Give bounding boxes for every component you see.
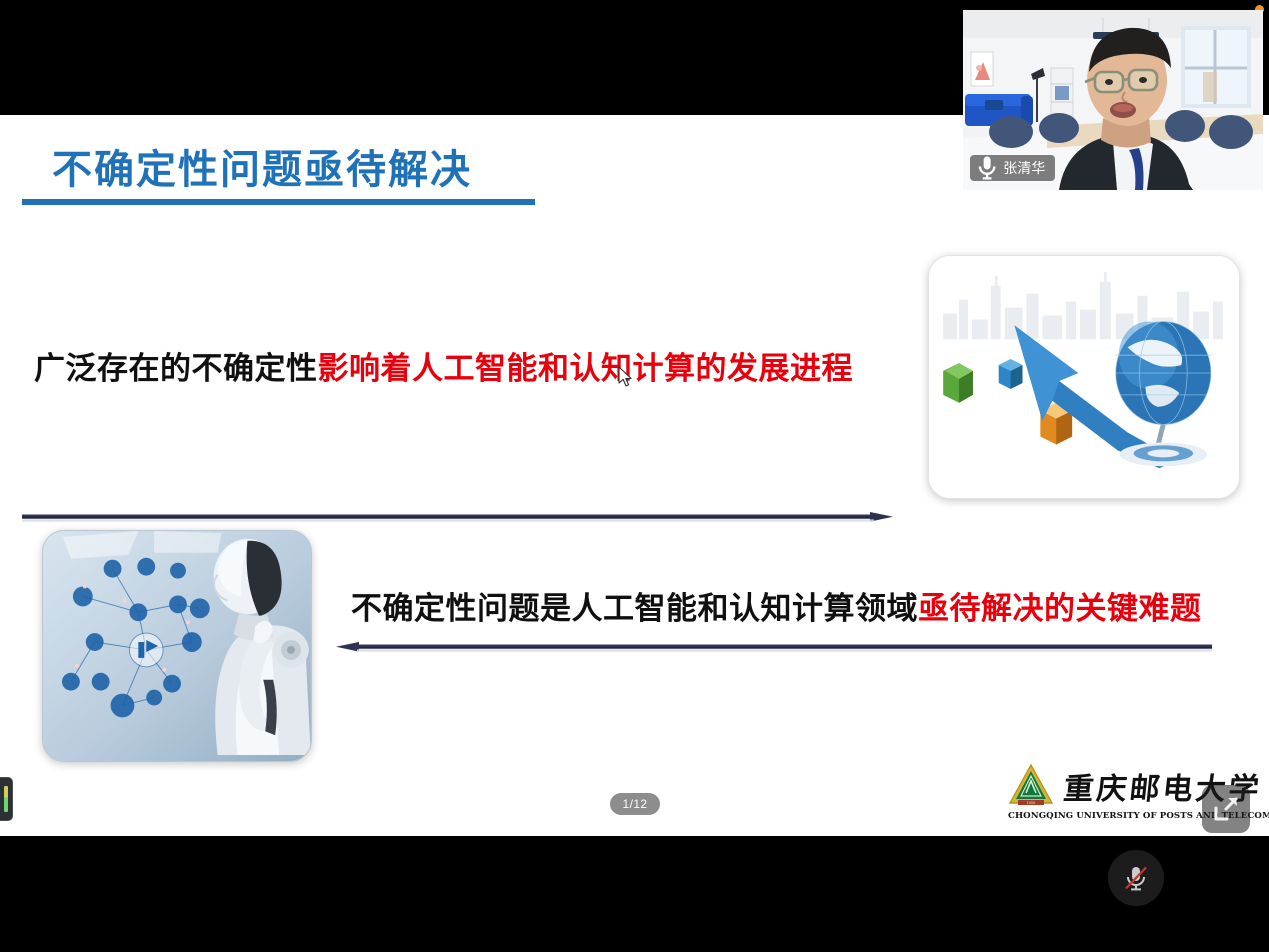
participant-video-tile[interactable]: 张清华 — [963, 10, 1263, 190]
slide-title: 不确定性问题亟待解决 — [52, 137, 472, 195]
shared-slide-surface[interactable]: 不确定性问题亟待解决 广泛存在的不确定性影响着人工智能和认知计算的发展进程 不确… — [0, 115, 1269, 836]
microphone-muted-icon — [1121, 863, 1151, 893]
audio-level-bar — [4, 786, 8, 812]
university-crest-icon: 1950 — [1008, 763, 1054, 809]
arrow-right-decoration — [22, 511, 893, 523]
slide-page-indicator: 1/12 — [610, 793, 660, 815]
globe-growth-arrow-illustration — [929, 256, 1239, 498]
title-underline-rule — [22, 199, 535, 205]
slide-statement-line-1: 广泛存在的不确定性影响着人工智能和认知计算的发展进程 — [34, 343, 853, 388]
ai-robot-network-illustration — [43, 531, 311, 761]
exit-fullscreen-icon — [1213, 796, 1239, 822]
svg-text:1950: 1950 — [1027, 801, 1036, 805]
statement-1-red-text: 影响着人工智能和认知计算的发展进程 — [318, 351, 854, 387]
exit-fullscreen-button[interactable] — [1202, 785, 1250, 833]
microphone-icon — [977, 155, 997, 181]
arrow-left-decoration — [335, 641, 1212, 653]
audio-level-handle[interactable] — [0, 777, 13, 821]
globe-growth-image-card — [928, 255, 1240, 499]
statement-2-red-text: 亟待解决的关键难题 — [918, 591, 1202, 627]
meeting-screen-share-window: 不确定性问题亟待解决 广泛存在的不确定性影响着人工智能和认知计算的发展进程 不确… — [0, 0, 1269, 952]
statement-1-black-text: 广泛存在的不确定性 — [34, 351, 318, 387]
slide-statement-line-2: 不确定性问题是人工智能和认知计算领域亟待解决的关键难题 — [351, 583, 1202, 628]
ai-robot-image-card — [42, 530, 312, 762]
participant-name-label: 张清华 — [1003, 158, 1045, 178]
mute-toggle-button[interactable] — [1108, 850, 1164, 906]
participant-name-chip: 张清华 — [970, 155, 1055, 181]
statement-2-black-text: 不确定性问题是人工智能和认知计算领域 — [351, 591, 918, 627]
